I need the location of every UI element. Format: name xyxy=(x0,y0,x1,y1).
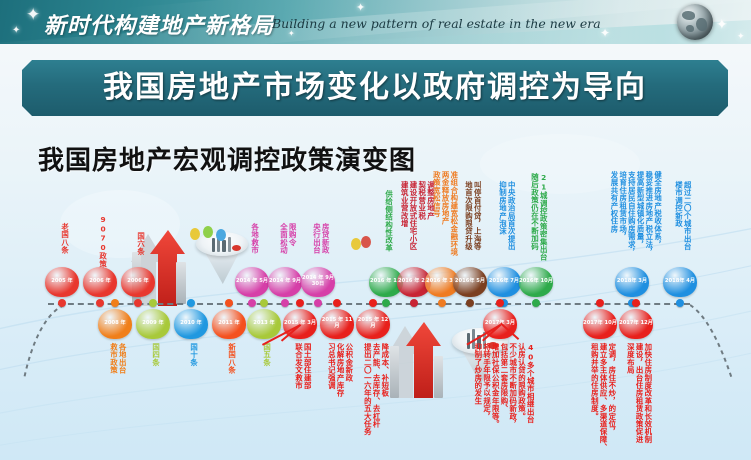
timeline-node-label: 加快住房制度改革和长效机制 建设，出台住房租赁政策促进 深度布局 xyxy=(624,343,652,435)
city-buildings-icon xyxy=(434,356,443,398)
sparkle-icon: ✦ xyxy=(356,2,365,13)
timeline-date-badge[interactable]: 2009 年 xyxy=(136,309,170,339)
timeline-node-label: 超过二〇个城市出台 楼市调控新政 xyxy=(673,181,691,263)
timeline-node-label: 各地救市 xyxy=(249,223,258,263)
timeline-node-label: 国五条 xyxy=(261,343,270,374)
city-buildings-icon xyxy=(390,346,399,398)
timeline-node-label: 新国八条 xyxy=(226,343,235,383)
timeline-date-badge[interactable]: 2016年 7月 xyxy=(487,267,521,297)
timeline-node-label: 公积金新政 化解房地产库存 习总书记强调 xyxy=(325,343,353,408)
timeline-date-badge[interactable]: 2018年 3月 xyxy=(615,267,649,297)
timeline-node-label: 供给侧结构性改革 xyxy=(383,190,392,263)
timeline-date-badge[interactable]: 2014 年 9月 xyxy=(268,267,302,297)
timeline-node-label: 国十条 xyxy=(188,343,197,374)
timeline-date-badge[interactable]: 2016年 10月 xyxy=(519,267,553,297)
timeline-axis-lead xyxy=(20,303,64,381)
sparkle-icon: ✦ xyxy=(288,30,295,38)
sparkle-icon: ✦ xyxy=(26,7,40,24)
sparkle-icon: ✦ xyxy=(716,18,728,32)
header-title-en: Building a new pattern of real estate in… xyxy=(272,16,601,31)
slide-root: ✦ ✦ ✦ ✦ ✦ ✦ ✦ 新时代构建地产新格局 Building a new … xyxy=(0,0,751,460)
timeline-date-badge[interactable]: 2015 年 12月 xyxy=(356,309,390,339)
timeline-date-badge[interactable]: 2014 年 5月 xyxy=(235,267,269,297)
timeline-date-badge[interactable]: 2013 年 xyxy=(247,309,281,339)
sparkle-icon: ✦ xyxy=(600,27,610,39)
header-title-cn: 新时代构建地产新格局 xyxy=(44,8,274,40)
banner-title: 我国房地产市场变化以政府调控为导向 xyxy=(22,60,728,116)
timeline-node-label: 准组合构建宽松金融环境 两金释放房地产 政策宽松信号 xyxy=(430,171,458,263)
timeline-node-label: 21城调控政策密集出台 随后政策仍在不断加码 xyxy=(529,173,547,263)
timeline-date-badge[interactable]: 2016年 5月 xyxy=(453,267,487,297)
timeline-date-badge[interactable]: 2010 年 xyxy=(174,309,208,339)
section-title: 我国房地产宏观调控政策演变图 xyxy=(38,140,416,177)
timeline-date-badge[interactable]: 2017年 10月 xyxy=(583,309,617,339)
timeline-axis-tail xyxy=(690,303,736,381)
timeline-date-badge[interactable]: 2014 年 9月30日 xyxy=(301,267,335,297)
timeline-node-label: 叫停首付贷，上海等 地首次限购限贷升级 xyxy=(463,181,481,263)
timeline-node-label: 40多个城市相继出台 认房认贷的限购政策。 不少城市不断加码新政， 包括第二套房… xyxy=(470,343,534,435)
balloon-cluster-icon xyxy=(186,226,236,252)
timeline-node-label: 国六条 xyxy=(135,232,144,263)
sparkle-icon: ✦ xyxy=(737,33,745,42)
timeline-node-label: 各地出台 救市政策 xyxy=(108,343,126,383)
timeline-node-label: 降成本、补短板 去产能、去库存、去杠杆 提出二〇一六年的五大任务 xyxy=(361,343,389,435)
timeline-node-label: 健全房地产税收体系， 稳妥推进房地产税立法， 提高新型城镇化质量， 支持居民自住… xyxy=(606,171,661,263)
timeline-date-badge[interactable]: 2011 年 xyxy=(212,309,246,339)
timeline-node-label: 调整房地产 契税营业税 建设开放式住宅小区 建筑业营改增 xyxy=(398,181,435,263)
timeline-node-label: 房贷新政 央行出台 xyxy=(311,223,329,263)
timeline-date-badge[interactable]: 2018年 4月 xyxy=(663,267,697,297)
timeline-node-label: 定调，房住不炒，的定位， 建立多主体供应、多渠道保障、 租购并举的住房制度。 xyxy=(588,343,616,435)
timeline-date-badge[interactable]: 2008 年 xyxy=(98,309,132,339)
globe-icon xyxy=(677,4,713,40)
timeline-date-badge[interactable]: 2005 年 xyxy=(45,267,79,297)
timeline-date-badge[interactable]: 2006 年 xyxy=(83,267,117,297)
timeline-node-label: 国四条 xyxy=(150,343,159,374)
balloon-cluster-icon xyxy=(348,236,374,258)
timeline-node-label: 限购令 全面松动 xyxy=(278,223,296,263)
sparkle-icon: ✦ xyxy=(12,26,20,36)
timeline-node-label: 中央政治局首次提出 抑制房地产泡沫 xyxy=(497,181,515,263)
timeline-date-badge[interactable]: 2015 年 11月 xyxy=(320,309,354,339)
timeline-node-label: 老国八条 xyxy=(59,223,68,263)
timeline-date-badge[interactable]: 2017年 12月 xyxy=(619,309,653,339)
timeline-node-label: 国土部住建部 联合发文救市 xyxy=(293,343,311,399)
city-buildings-icon xyxy=(176,262,186,304)
timeline-date-badge[interactable]: 2006 年 xyxy=(121,267,155,297)
timeline-node-label: 9070政策 xyxy=(97,215,106,263)
header-bar: ✦ ✦ ✦ ✦ ✦ ✦ ✦ 新时代构建地产新格局 Building a new … xyxy=(0,0,751,44)
